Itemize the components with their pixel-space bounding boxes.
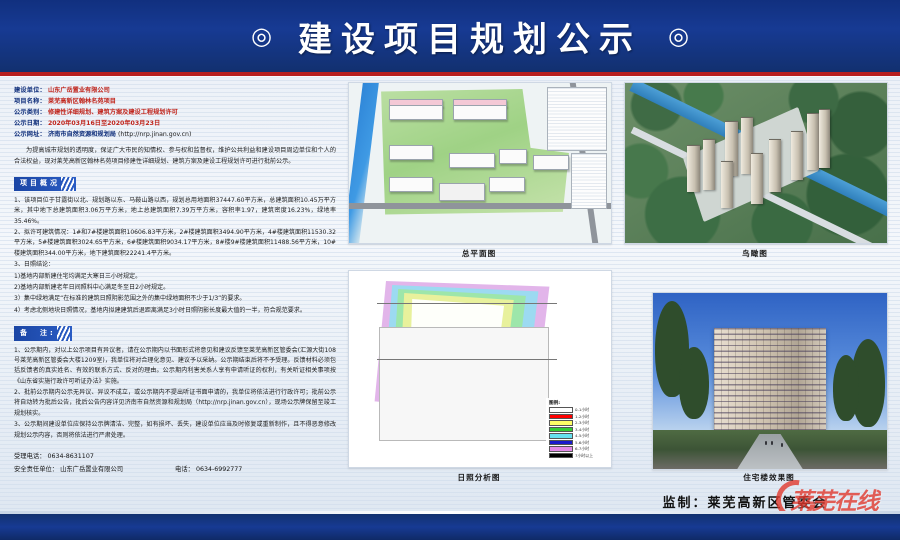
rendering-person: [771, 441, 773, 445]
master-plan-caption: 总平面图: [348, 248, 610, 259]
sunlight-site-outline: [379, 327, 549, 441]
remarks-body: 1、公示期内，对以上公示项目有异议者，请在公示期内以书面形式将意见和建议反馈至莱…: [14, 346, 336, 442]
intro-paragraph: 为提高城市规划的透明度，保证广大市民的知情权、参与权和监督权，维护公共利益和建设…: [14, 146, 336, 167]
publicity-poster: ◎ 建设项目规划公示 ◎ 建设单位： 山东广岳置业有限公司 项目名称： 莱芜高新…: [0, 0, 900, 540]
rendering-person: [781, 443, 783, 447]
poster-footer: [0, 514, 900, 540]
legend-swatch: [549, 420, 573, 425]
overview-item: 1)基地内部新建住宅均满足大寒日三小时规定。: [14, 272, 336, 282]
overview-item: 2)基地内部新建老年日间照料中心满足冬至日2小时规定。: [14, 283, 336, 293]
legend-swatch: [549, 427, 573, 432]
aerial-tower: [807, 113, 819, 170]
sunlight-analysis-figure[interactable]: 图例: 0-1小时 1-2小时 2-3小时 3-4小时 4-5小时: [348, 270, 612, 468]
legend-swatch: [549, 440, 573, 445]
overview-item: 3、日照结论：: [14, 260, 336, 270]
legend-label: 0-1小时: [575, 407, 589, 413]
info-label: 公示类别：: [14, 108, 46, 118]
plan-building: [389, 145, 433, 160]
aerial-tower: [703, 139, 715, 190]
legend-swatch: [549, 433, 573, 438]
legend-item: 0-1小时: [549, 407, 605, 413]
info-label: 公示网址：: [14, 130, 46, 140]
legend-label: 6-7小时: [575, 446, 589, 452]
residential-rendering-caption: 住宅楼效果图: [652, 472, 886, 483]
legend-item: 2-3小时: [549, 420, 605, 426]
plan-building: [449, 153, 495, 168]
info-label: 建设单位：: [14, 86, 46, 96]
rendering-tree: [833, 355, 859, 421]
poster-header: ◎ 建设项目规划公示 ◎: [0, 0, 900, 72]
section-heading-remarks-label: 备 注:: [20, 329, 56, 337]
legend-item: 6-7小时: [549, 446, 605, 452]
info-value: 修建性详细规划、建筑方案及建设工程规划许可: [48, 108, 178, 118]
plan-building: [489, 177, 525, 192]
overview-item: 2、拟许可建筑情况：1#和7#楼建筑面积10606.83平方米，2#楼建筑面积3…: [14, 228, 336, 259]
aerial-tower: [791, 131, 803, 180]
info-value: 莱芜高新区翰林名苑项目: [48, 97, 116, 107]
master-plan-figure[interactable]: [348, 82, 612, 244]
sunlight-legend: 图例: 0-1小时 1-2小时 2-3小时 3-4小时 4-5小时: [546, 398, 607, 461]
publicity-url[interactable]: (http://nrp.jinan.gov.cn): [118, 130, 191, 140]
overview-item: 3）集中绿地满足“在标准的建筑日照阴影范围之外的集中绿地面积不少于1/3”的要求…: [14, 294, 336, 304]
legend-swatch: [549, 407, 573, 412]
legend-label: 1-2小时: [575, 414, 589, 420]
sunlight-dimension-line: [377, 303, 557, 304]
sunlight-analysis-caption: 日照分析图: [348, 472, 610, 483]
overview-item: 1、该项目位于甘露街以北、规划路以东、马鞍山路以西，规划总用地面积37447.6…: [14, 196, 336, 227]
aerial-view-caption: 鸟瞰图: [624, 248, 886, 259]
legend-item: 3-4小时: [549, 427, 605, 433]
info-value: 济南市自然资源和规划局: [48, 130, 116, 140]
rendering-building: [714, 328, 826, 430]
legend-title: 图例:: [549, 400, 605, 406]
info-row-date: 公示日期： 2020年03月16日至2020年03月23日: [14, 119, 336, 129]
info-label: 项目名称：: [14, 97, 46, 107]
aerial-tower: [769, 139, 781, 192]
supervise-phone-label: 受理电话：: [14, 451, 45, 464]
aerial-tower: [819, 109, 830, 168]
legend-item: 5-6小时: [549, 440, 605, 446]
rendering-building-floors: [714, 328, 826, 430]
supervisor-line: 监制：莱芜高新区管委会: [600, 492, 890, 511]
slash-stripes-icon: [57, 326, 70, 340]
supervise-phone-value: 0634-8631107: [47, 451, 93, 464]
legend-label: 5-6小时: [575, 440, 589, 446]
plan-building: [389, 105, 443, 120]
sunlight-dimension-line: [377, 359, 557, 360]
info-label: 公示日期：: [14, 119, 46, 129]
plan-building: [533, 155, 569, 170]
safety-unit-value: 山东广岳置业有限公司: [60, 464, 123, 477]
plan-building: [453, 105, 507, 120]
header-highlight-rule: [0, 76, 900, 78]
safety-unit-label: 安全责任单位：: [14, 464, 58, 477]
legend-item: 1-2小时: [549, 414, 605, 420]
overview-body: 1、该项目位于甘露街以北、规划路以东、马鞍山路以西，规划总用地面积37447.6…: [14, 196, 336, 316]
safety-phone-label: 电话：: [175, 464, 194, 477]
legend-label: 3-4小时: [575, 427, 589, 433]
plan-clubhouse: [439, 183, 485, 201]
remark-item: 2、批前公示期内公示无异议、异议不成立，或公示期内不提出听证书面申请的，我单位将…: [14, 388, 336, 419]
rendering-tree: [679, 347, 709, 419]
aerial-tower: [751, 153, 763, 204]
info-value: 山东广岳置业有限公司: [48, 86, 110, 96]
aerial-tower: [687, 145, 700, 192]
remark-item: 3、公示期间建设单位应保持公示牌清洁、完整，如有损坏、丢失，建设单位应当及时修复…: [14, 420, 336, 441]
ornament-left-icon: ◎: [251, 24, 272, 48]
plan-building: [499, 149, 527, 164]
legend-item: 4-5小时: [549, 433, 605, 439]
section-heading-overview: 项目概况: [14, 177, 76, 191]
remark-item: 1、公示期内，对以上公示项目有异议者，请在公示期内以书面形式将意见和建议反馈至莱…: [14, 346, 336, 388]
ornament-right-icon: ◎: [668, 24, 689, 48]
contact-row-supervise: 受理电话： 0634-8631107: [14, 451, 336, 464]
info-value: 2020年03月16日至2020年03月23日: [48, 119, 160, 129]
legend-swatch: [549, 446, 573, 451]
overview-item: 4）考虑北侧地块日照情况，基地内拟建建筑后退距离满足3小时日照阴影长度最大值的一…: [14, 306, 336, 316]
aerial-view-figure[interactable]: [624, 82, 888, 244]
legend-label: 7小时以上: [575, 453, 593, 459]
contact-row-safety: 安全责任单位： 山东广岳置业有限公司 电话： 0634-6992777: [14, 464, 336, 477]
info-row-website: 公示网址： 济南市自然资源和规划局 (http://nrp.jinan.gov.…: [14, 130, 336, 140]
rendering-person: [765, 441, 767, 445]
info-row-project-name: 项目名称： 莱芜高新区翰林名苑项目: [14, 97, 336, 107]
aerial-tower: [721, 161, 733, 208]
legend-swatch: [549, 453, 573, 458]
plan-building: [389, 177, 433, 192]
plan-index-table: [547, 87, 607, 151]
legend-swatch: [549, 414, 573, 419]
residential-rendering-figure[interactable]: [652, 292, 888, 470]
info-row-category: 公示类别： 修建性详细规划、建筑方案及建设工程规划许可: [14, 108, 336, 118]
safety-phone-value: 0634-6992777: [196, 464, 242, 477]
legend-label: 4-5小时: [575, 433, 589, 439]
plan-legend-table: [571, 153, 607, 209]
page-title: 建设项目规划公示: [298, 12, 642, 61]
contact-block: 受理电话： 0634-8631107 安全责任单位： 山东广岳置业有限公司 电话…: [14, 451, 336, 476]
slash-stripes-icon: [61, 177, 74, 191]
legend-item: 7小时以上: [549, 453, 605, 459]
info-column: 建设单位： 山东广岳置业有限公司 项目名称： 莱芜高新区翰林名苑项目 公示类别：…: [14, 86, 336, 516]
section-heading-overview-label: 项目概况: [20, 179, 60, 187]
info-row-developer: 建设单位： 山东广岳置业有限公司: [14, 86, 336, 96]
section-heading-remarks: 备 注:: [14, 326, 72, 340]
legend-label: 2-3小时: [575, 420, 589, 426]
